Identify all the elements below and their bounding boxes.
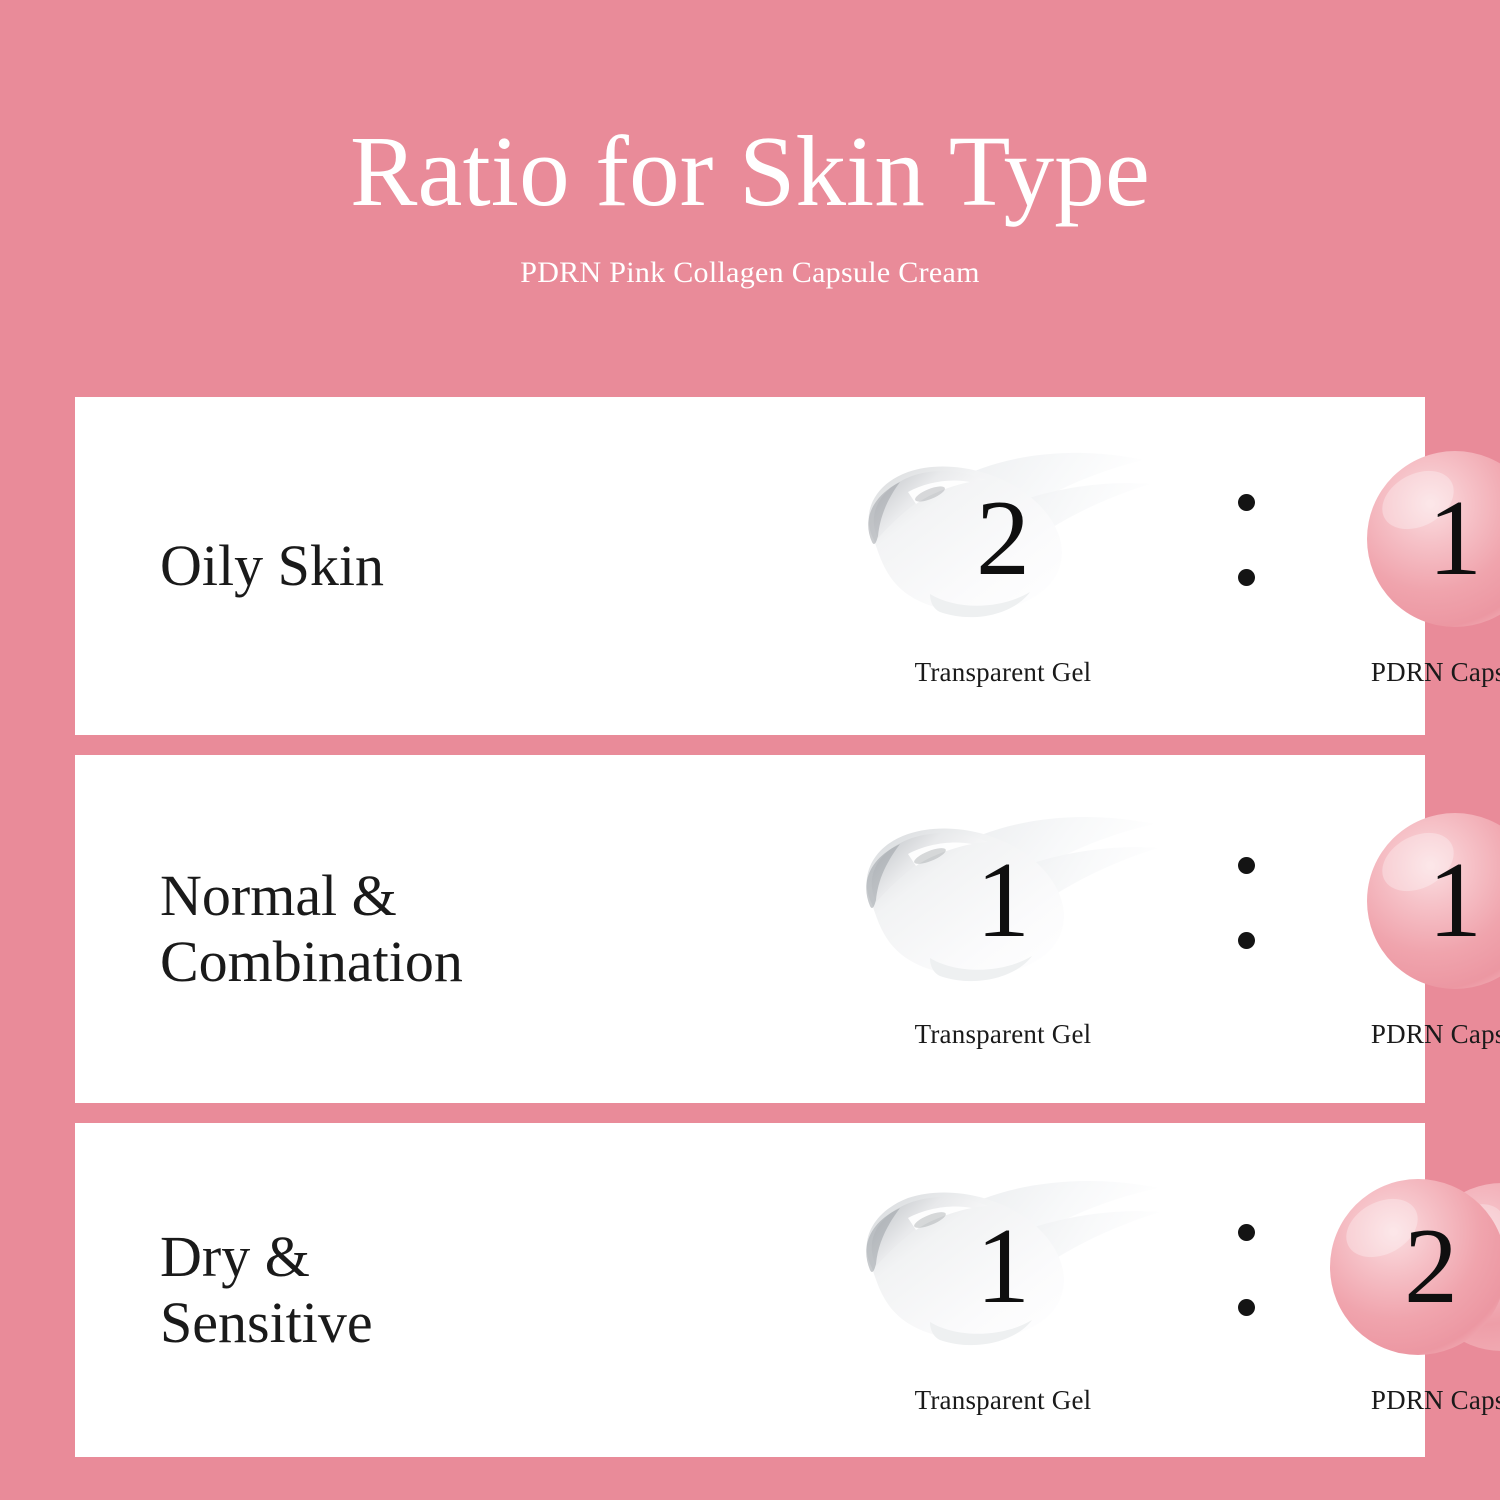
capsule-caption: PDRN Capsule (1285, 1019, 1500, 1050)
ratio-card-list: Oily Skin (75, 397, 1425, 1457)
ratio-block: 1 Transparent Gel (575, 1123, 1425, 1457)
skin-type-label-line: Sensitive (160, 1290, 575, 1356)
capsule-caption: PDRN Capsule (1285, 657, 1500, 688)
page-subtitle: PDRN Pink Collagen Capsule Cream (0, 225, 1500, 291)
pdrn-capsule-sphere-pair-icon (1290, 1172, 1500, 1362)
spacer (1285, 1001, 1500, 1019)
colon-dot-bottom (1238, 1299, 1255, 1316)
gel-column: 2 Transparent Gel (833, 439, 1173, 688)
gel-column: 1 Transparent Gel (833, 1167, 1173, 1416)
skin-type-label: Dry & Sensitive (75, 1224, 575, 1355)
gel-column: 1 Transparent Gel (833, 801, 1173, 1050)
skin-type-label-line: Combination (160, 929, 575, 995)
pdrn-capsule-sphere-icon (1290, 444, 1500, 634)
capsule-caption: PDRN Capsule (1285, 1385, 1500, 1416)
transparent-gel-swatch-icon (838, 806, 1168, 996)
skin-type-label-line: Oily Skin (160, 533, 575, 599)
ratio-separator (1231, 494, 1261, 586)
capsule-visual: 1 (1285, 801, 1500, 1001)
ratio-card-dry-sensitive: Dry & Sensitive (75, 1123, 1425, 1457)
spacer (833, 639, 1173, 657)
page-title: Ratio for Skin Type (0, 118, 1500, 225)
header: Ratio for Skin Type PDRN Pink Collagen C… (0, 0, 1500, 291)
ratio-separator (1231, 1224, 1261, 1316)
ratio-block: 2 Transparent Gel (575, 397, 1425, 735)
skin-type-label-line: Dry & (160, 1224, 575, 1290)
gel-caption: Transparent Gel (833, 1019, 1173, 1050)
transparent-gel-swatch-icon (838, 444, 1168, 634)
spacer (1285, 639, 1500, 657)
skin-type-label: Oily Skin (75, 533, 575, 599)
capsule-visual: 1 (1285, 439, 1500, 639)
gel-visual: 1 (833, 801, 1173, 1001)
skin-type-label: Normal & Combination (75, 863, 575, 994)
colon-dot-bottom (1238, 569, 1255, 586)
gel-caption: Transparent Gel (833, 1385, 1173, 1416)
capsule-column: 1 PDRN Capsule (1285, 439, 1500, 688)
gel-visual: 2 (833, 439, 1173, 639)
ratio-card-normal-combination: Normal & Combination (75, 755, 1425, 1103)
ratio-block: 1 Transparent Gel (575, 755, 1425, 1103)
transparent-gel-swatch-icon (838, 1172, 1168, 1362)
ratio-separator (1231, 857, 1261, 949)
colon-dot-top (1238, 494, 1255, 511)
spacer (1285, 1367, 1500, 1385)
spacer (833, 1367, 1173, 1385)
colon-dot-bottom (1238, 932, 1255, 949)
gel-caption: Transparent Gel (833, 657, 1173, 688)
ratio-card-oily-skin: Oily Skin (75, 397, 1425, 735)
capsule-visual: 2 (1285, 1167, 1500, 1367)
pdrn-capsule-sphere-icon (1290, 806, 1500, 996)
colon-dot-top (1238, 1224, 1255, 1241)
colon-dot-top (1238, 857, 1255, 874)
gel-visual: 1 (833, 1167, 1173, 1367)
capsule-column: 1 PDRN Capsule (1285, 801, 1500, 1050)
capsule-column: 2 PDRN Capsule (1285, 1167, 1500, 1416)
spacer (833, 1001, 1173, 1019)
skin-type-label-line: Normal & (160, 863, 575, 929)
